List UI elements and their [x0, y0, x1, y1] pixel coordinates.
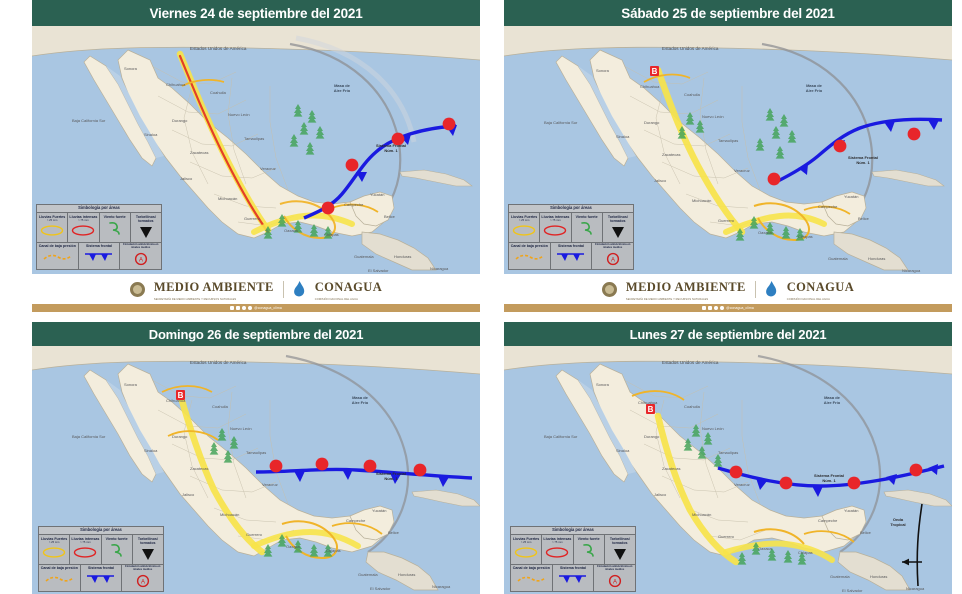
panel-footer-brand: MEDIO AMBIENTE SECRETARÍA DE MEDIO AMBIE… — [32, 274, 480, 304]
yellow-ellipse-icon — [38, 223, 66, 239]
legend-row-areas: Lluvias Fuertes > 25 mm Lluvias intensas… — [511, 535, 635, 565]
legend-item-lluvias-fuertes: Lluvias Fuertes > 25 mm — [39, 535, 70, 564]
panel-title-viernes: Viernes 24 de septiembre del 2021 — [32, 0, 480, 26]
legend-item-canal-baja-presion: Canal de baja presión — [509, 243, 551, 269]
legend-label: Torbellinos/ tornados — [606, 537, 634, 545]
svg-text:A: A — [141, 580, 145, 586]
legend-item-torbellinos: Torbellinos/ tornados — [133, 535, 163, 564]
legend-row-systems: Canal de baja presión Sistema frontal Ci… — [509, 243, 633, 269]
conagua-drop-icon — [293, 281, 306, 297]
legend-row-areas: Lluvias Fuertes > 25 mm Lluvias intensas… — [39, 535, 163, 565]
youtube-icon[interactable] — [720, 306, 724, 310]
low-pressure-marker-b: B — [650, 66, 659, 76]
legend-row-areas: Lluvias Fuertes > 25 mm Lluvias intensas… — [509, 213, 633, 243]
legend-item-torbellinos: Torbellinos/ tornados — [131, 213, 161, 242]
cold-front-icon — [554, 571, 593, 587]
legend-item-canal-baja-presion: Canal de baja presión — [37, 243, 79, 269]
legend-row-systems: Canal de baja presión Sistema frontal Ci… — [39, 565, 163, 591]
svg-text:A: A — [611, 258, 615, 264]
legend-label: Sistema frontal — [552, 244, 591, 248]
legend-label: Viento fuerte — [573, 215, 601, 219]
instagram-icon[interactable] — [242, 306, 246, 310]
tornado-funnel-icon — [604, 224, 632, 240]
legend-item-viento-fuerte: Viento fuerte — [102, 535, 133, 564]
panel-title-sabado: Sábado 25 de septiembre del 2021 — [504, 0, 952, 26]
legend-item-viento-fuerte: Viento fuerte — [574, 535, 605, 564]
legend-item-lluvias-intensas: Lluvias intensas > 75 mm — [542, 535, 573, 564]
map-canvas: Estados Unidos de América Masa deAire Fr… — [32, 346, 480, 594]
trough-icon — [510, 249, 549, 265]
legend-label: Viento fuerte — [103, 537, 131, 541]
legend-row-systems: Canal de baja presión Sistema frontal — [37, 243, 161, 269]
twitter-icon[interactable] — [236, 306, 240, 310]
yellow-ellipse-icon — [510, 223, 538, 239]
brand-divider — [755, 281, 756, 298]
mexico-seal-icon — [602, 282, 617, 297]
legend-item-sistema-frontal: Sistema frontal — [79, 243, 121, 269]
panel-footer-brand: MEDIO AMBIENTE SECRETARÍA DE MEDIO AMBIE… — [504, 274, 952, 304]
legend-item-circulacion-anticiclonica: Circulación anticiclónica en niveles med… — [594, 565, 635, 591]
legend-title: Simbología por áreas — [511, 527, 635, 536]
legend-item-canal-baja-presion: Canal de baja presión — [39, 565, 81, 591]
panel-map-lunes: Estados Unidos de América Masa deAire Fr… — [504, 346, 952, 594]
legend-label: Circulación anticiclónica en niveles med… — [595, 566, 634, 572]
legend-label: Torbellinos/ tornados — [134, 537, 162, 545]
svg-text:A: A — [139, 258, 143, 264]
wind-icon — [575, 542, 603, 558]
wind-icon — [101, 220, 129, 236]
wind-icon — [573, 220, 601, 236]
yellow-ellipse-icon — [40, 545, 68, 561]
panel-social-bar: @conagua_clima — [32, 304, 480, 312]
legend-label: Canal de baja presión — [40, 566, 79, 570]
legend-item-canal-baja-presion: Canal de baja presión — [511, 565, 553, 591]
forecast-panel-viernes: Viernes 24 de septiembre del 2021 — [32, 0, 480, 312]
panel-title-domingo: Domingo 26 de septiembre del 2021 — [32, 322, 480, 346]
legend-title: Simbología por áreas — [37, 205, 161, 214]
map-canvas: Estados Unidos de América Masa deAire Fr… — [504, 26, 952, 274]
low-pressure-marker-b: B — [176, 390, 185, 400]
mexico-seal-icon — [130, 282, 145, 297]
tornado-funnel-icon — [132, 224, 160, 240]
anticyclone-icon: A — [595, 573, 634, 589]
panel-map-domingo: Estados Unidos de América Masa deAire Fr… — [32, 346, 480, 594]
legend-label: Sistema frontal — [554, 566, 593, 570]
legend-box: Simbología por áreas Lluvias Fuertes > 2… — [36, 204, 162, 270]
legend-item-sistema-frontal: Sistema frontal — [553, 565, 595, 591]
tornado-funnel-icon — [134, 546, 162, 562]
legend-label: Torbellinos/ tornados — [604, 215, 632, 223]
legend-label: Circulación anticiclónica en niveles med… — [123, 566, 162, 572]
legend-title: Simbología por áreas — [509, 205, 633, 214]
anticyclone-icon: A — [593, 251, 632, 267]
facebook-icon[interactable] — [702, 306, 706, 310]
forecast-panel-grid: Viernes 24 de septiembre del 2021 — [0, 0, 962, 594]
legend-box: Simbología por áreas Lluvias Fuertes > 2… — [508, 204, 634, 270]
conagua-drop-icon — [765, 281, 778, 297]
anticyclone-icon: A — [121, 251, 160, 267]
trough-icon — [40, 571, 79, 587]
legend-item-lluvias-intensas: Lluvias intensas > 75 mm — [70, 535, 101, 564]
legend-item-circulacion-anticiclonica: Circulación anticiclónica en niveles med… — [592, 243, 633, 269]
legend-row-areas: Lluvias Fuertes > 25 mm Lluvias intensas… — [37, 213, 161, 243]
legend-item-viento-fuerte: Viento fuerte — [100, 213, 131, 242]
tornado-funnel-icon — [606, 546, 634, 562]
legend-box: Simbología por áreas Lluvias Fuertes > 2… — [510, 526, 636, 592]
low-pressure-marker-b: B — [646, 404, 655, 414]
twitter-icon[interactable] — [708, 306, 712, 310]
legend-label: Canal de baja presión — [510, 244, 549, 248]
brand-medio-ambiente: MEDIO AMBIENTE SECRETARÍA DE MEDIO AMBIE… — [154, 278, 274, 301]
panel-social-bar: @conagua_clima — [504, 304, 952, 312]
panel-map-sabado: Estados Unidos de América Masa deAire Fr… — [504, 26, 952, 274]
legend-label: Sistema frontal — [82, 566, 121, 570]
map-canvas: Estados Unidos de América Masa deAire Fr… — [504, 346, 952, 594]
legend-label: Canal de baja presión — [512, 566, 551, 570]
anticyclone-icon: A — [123, 573, 162, 589]
legend-item-circulacion-anticiclonica: Circulación anticiclónica en niveles med… — [120, 243, 161, 269]
brand-divider — [283, 281, 284, 298]
legend-item-lluvias-fuertes: Lluvias Fuertes > 25 mm — [511, 535, 542, 564]
forecast-panel-domingo: Domingo 26 de septiembre del 2021 — [32, 322, 480, 594]
legend-item-circulacion-anticiclonica: Circulación anticiclónica en niveles med… — [122, 565, 163, 591]
map-canvas: Estados Unidos de América Masa deAire Fr… — [32, 26, 480, 274]
wind-icon — [103, 542, 131, 558]
trough-icon — [38, 249, 77, 265]
legend-label: Sistema frontal — [80, 244, 119, 248]
brand-medio-ambiente: MEDIO AMBIENTE SECRETARÍA DE MEDIO AMBIE… — [626, 278, 746, 301]
forecast-panel-sabado: Sábado 25 de septiembre del 2021 — [504, 0, 952, 312]
legend-item-viento-fuerte: Viento fuerte — [572, 213, 603, 242]
social-handle: @conagua_clima — [254, 306, 282, 310]
legend-item-sistema-frontal: Sistema frontal — [551, 243, 593, 269]
svg-text:A: A — [613, 580, 617, 586]
red-ellipse-icon — [69, 223, 97, 239]
instagram-icon[interactable] — [714, 306, 718, 310]
cold-front-icon — [82, 571, 121, 587]
facebook-icon[interactable] — [230, 306, 234, 310]
legend-box: Simbología por áreas Lluvias Fuertes > 2… — [38, 526, 164, 592]
legend-item-lluvias-fuertes: Lluvias Fuertes > 25 mm — [37, 213, 68, 242]
legend-label: Canal de baja presión — [38, 244, 77, 248]
legend-label: Circulación anticiclónica en niveles med… — [121, 244, 160, 250]
forecast-panel-lunes: Lunes 27 de septiembre del 2021 — [504, 322, 952, 594]
cold-front-icon — [80, 249, 119, 265]
panel-title-lunes: Lunes 27 de septiembre del 2021 — [504, 322, 952, 346]
legend-title: Simbología por áreas — [39, 527, 163, 536]
legend-item-torbellinos: Torbellinos/ tornados — [603, 213, 633, 242]
legend-label: Circulación anticiclónica en niveles med… — [593, 244, 632, 250]
legend-item-lluvias-intensas: Lluvias intensas > 75 mm — [68, 213, 99, 242]
legend-label: Viento fuerte — [575, 537, 603, 541]
legend-item-torbellinos: Torbellinos/ tornados — [605, 535, 635, 564]
legend-item-lluvias-intensas: Lluvias intensas > 75 mm — [540, 213, 571, 242]
legend-row-systems: Canal de baja presión Sistema frontal Ci… — [511, 565, 635, 591]
legend-item-sistema-frontal: Sistema frontal — [81, 565, 123, 591]
trough-icon — [512, 571, 551, 587]
youtube-icon[interactable] — [248, 306, 252, 310]
red-ellipse-icon — [543, 545, 571, 561]
legend-label: Viento fuerte — [101, 215, 129, 219]
legend-label: Torbellinos/ tornados — [132, 215, 160, 223]
red-ellipse-icon — [71, 545, 99, 561]
panel-map-viernes: Estados Unidos de América Masa deAire Fr… — [32, 26, 480, 274]
legend-item-lluvias-fuertes: Lluvias Fuertes > 25 mm — [509, 213, 540, 242]
brand-conagua: CONAGUA COMISIÓN NACIONAL DEL AGUA — [315, 278, 382, 301]
cold-front-icon — [552, 249, 591, 265]
social-handle: @conagua_clima — [726, 306, 754, 310]
brand-conagua: CONAGUA COMISIÓN NACIONAL DEL AGUA — [787, 278, 854, 301]
red-ellipse-icon — [541, 223, 569, 239]
yellow-ellipse-icon — [512, 545, 540, 561]
